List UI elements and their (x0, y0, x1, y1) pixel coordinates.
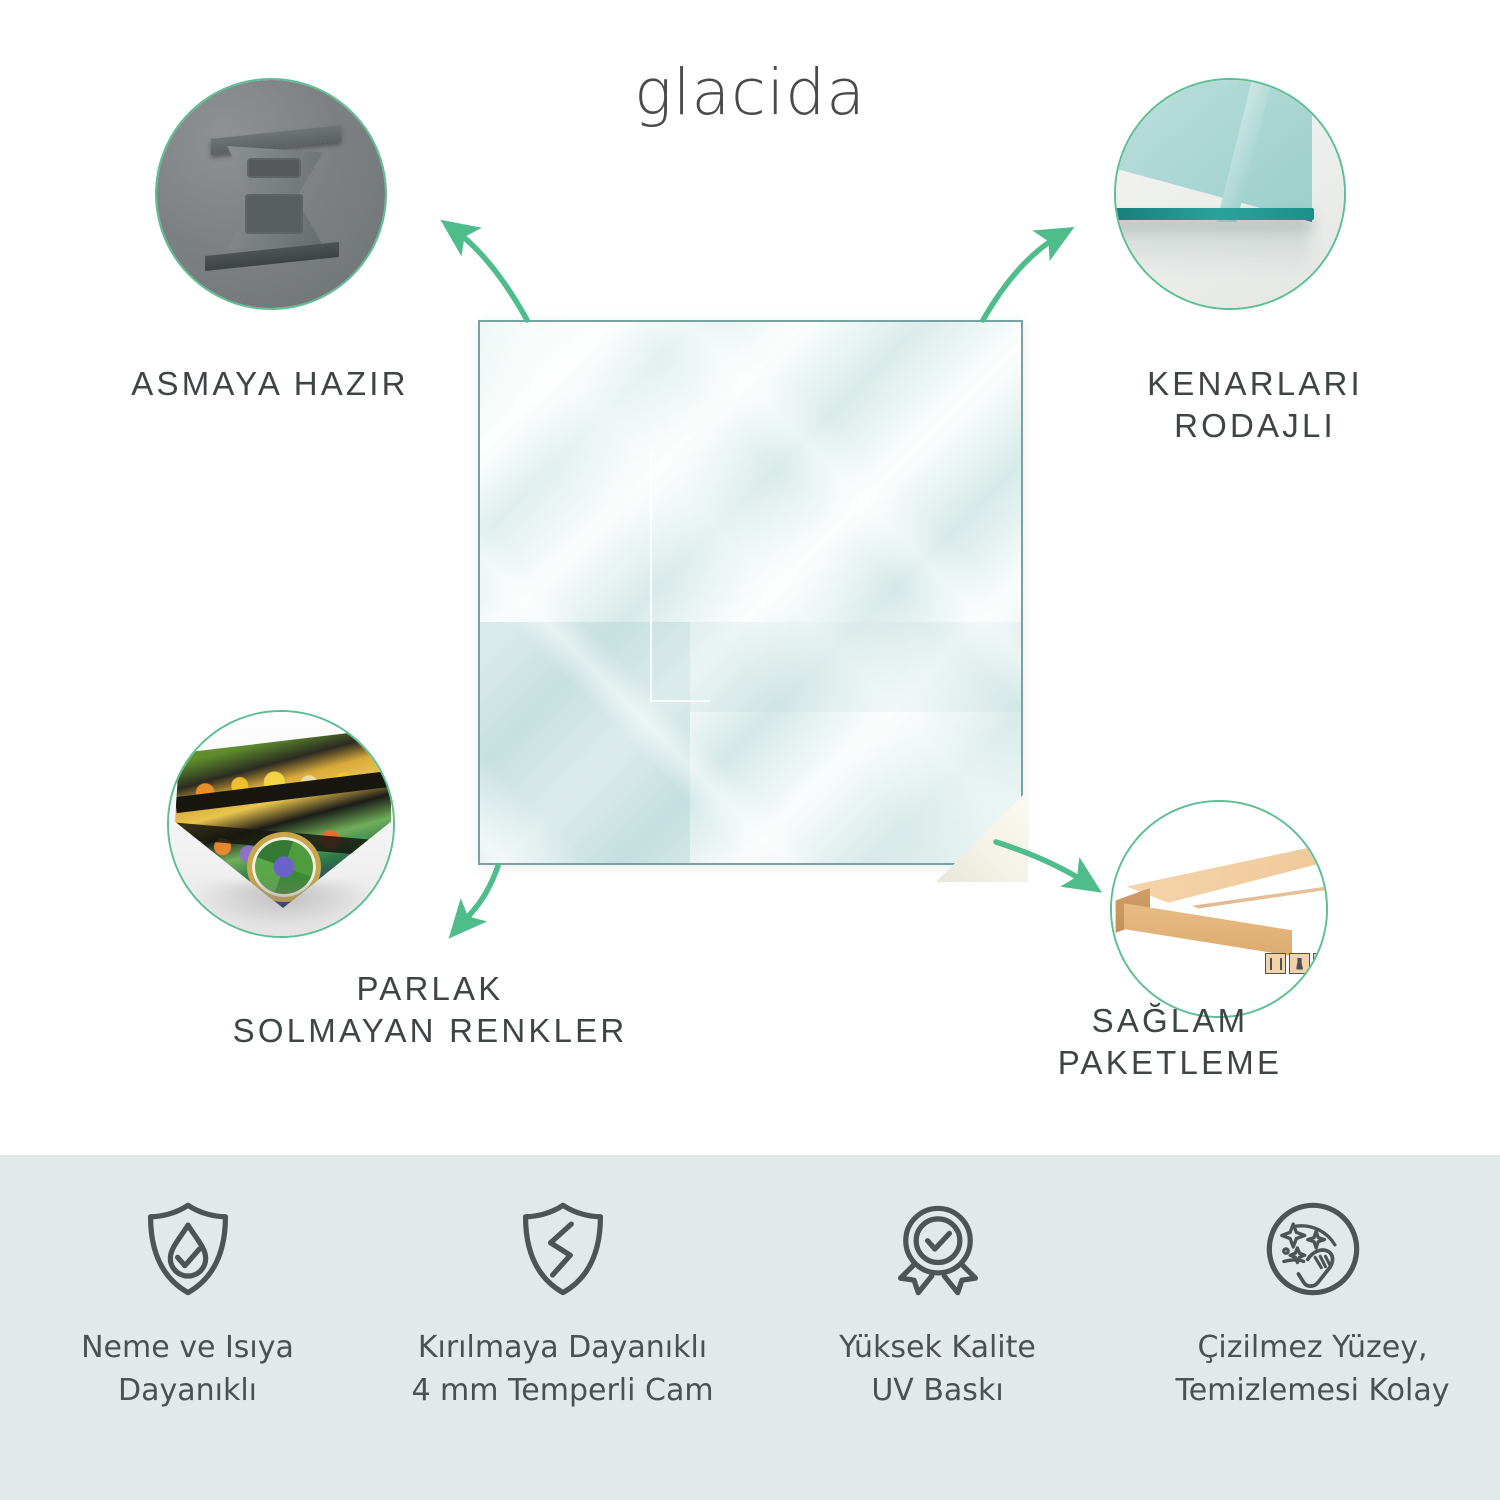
stained-glass-art-illustration (175, 728, 391, 908)
feature-image-asmaya-hazir (155, 78, 387, 310)
benefit-label: Yüksek Kalite UV Baskı (839, 1327, 1036, 1412)
benefit-label: Neme ve Isıya Dayanıklı (81, 1327, 294, 1412)
glass-tint-block (480, 622, 690, 865)
feature-image-saglam-paketleme (1110, 800, 1328, 1018)
hanger-bracket-illustration (205, 132, 345, 264)
shield-crack-icon (511, 1197, 615, 1301)
glass-reflection-line (650, 452, 652, 702)
feature-image-kenarlari-rodajli (1114, 78, 1346, 310)
this-way-up-icon (1265, 953, 1286, 974)
feature-label-kenarlari-rodajli: KENARLARI RODAJLI (1045, 363, 1465, 447)
benefit-label: Kırılmaya Dayanıklı 4 mm Temperli Cam (411, 1327, 713, 1412)
feature-label-parlak-solmayan-renkler: PARLAK SOLMAYAN RENKLER (200, 968, 660, 1052)
arrow-to-art (458, 866, 498, 928)
fragile-glass-icon (1289, 953, 1310, 974)
shield-water-drop-check-icon (136, 1197, 240, 1301)
handle-with-care-icon (1313, 953, 1328, 974)
glass-tint-block-secondary (690, 622, 1023, 712)
benefit-kirilmaya-dayanikli: Kırılmaya Dayanıklı 4 mm Temperli Cam (375, 1155, 750, 1500)
feature-image-parlak-solmayan-renkler (167, 710, 395, 938)
award-medal-check-icon (886, 1197, 990, 1301)
benefit-yuksek-kalite-uv-baski: Yüksek Kalite UV Baskı (750, 1155, 1125, 1500)
benefits-band: Neme ve Isıya Dayanıklı Kırılmaya Dayanı… (0, 1155, 1500, 1500)
cardboard-box-illustration (1110, 848, 1328, 978)
shipping-symbols (1265, 953, 1328, 974)
feature-label-saglam-paketleme: SAĞLAM PAKETLEME (960, 1000, 1380, 1084)
benefit-label: Çizilmez Yüzey, Temizlemesi Kolay (1176, 1327, 1450, 1412)
sparkle-hand-wipe-icon (1261, 1197, 1365, 1301)
benefit-neme-ve-isiya-dayanikli: Neme ve Isıya Dayanıklı (0, 1155, 375, 1500)
benefit-cizilmez-yuzey: Çizilmez Yüzey, Temizlemesi Kolay (1125, 1155, 1500, 1500)
arrow-to-hanger (452, 228, 527, 320)
glass-reflection-line-2 (650, 700, 710, 702)
arrow-to-edge (983, 234, 1062, 320)
feature-label-asmaya-hazir: ASMAYA HAZIR (60, 363, 480, 405)
infographic-page: glacida (0, 0, 1500, 1500)
glass-edge-illustration (1114, 78, 1312, 222)
product-glass-panel (478, 320, 1023, 865)
